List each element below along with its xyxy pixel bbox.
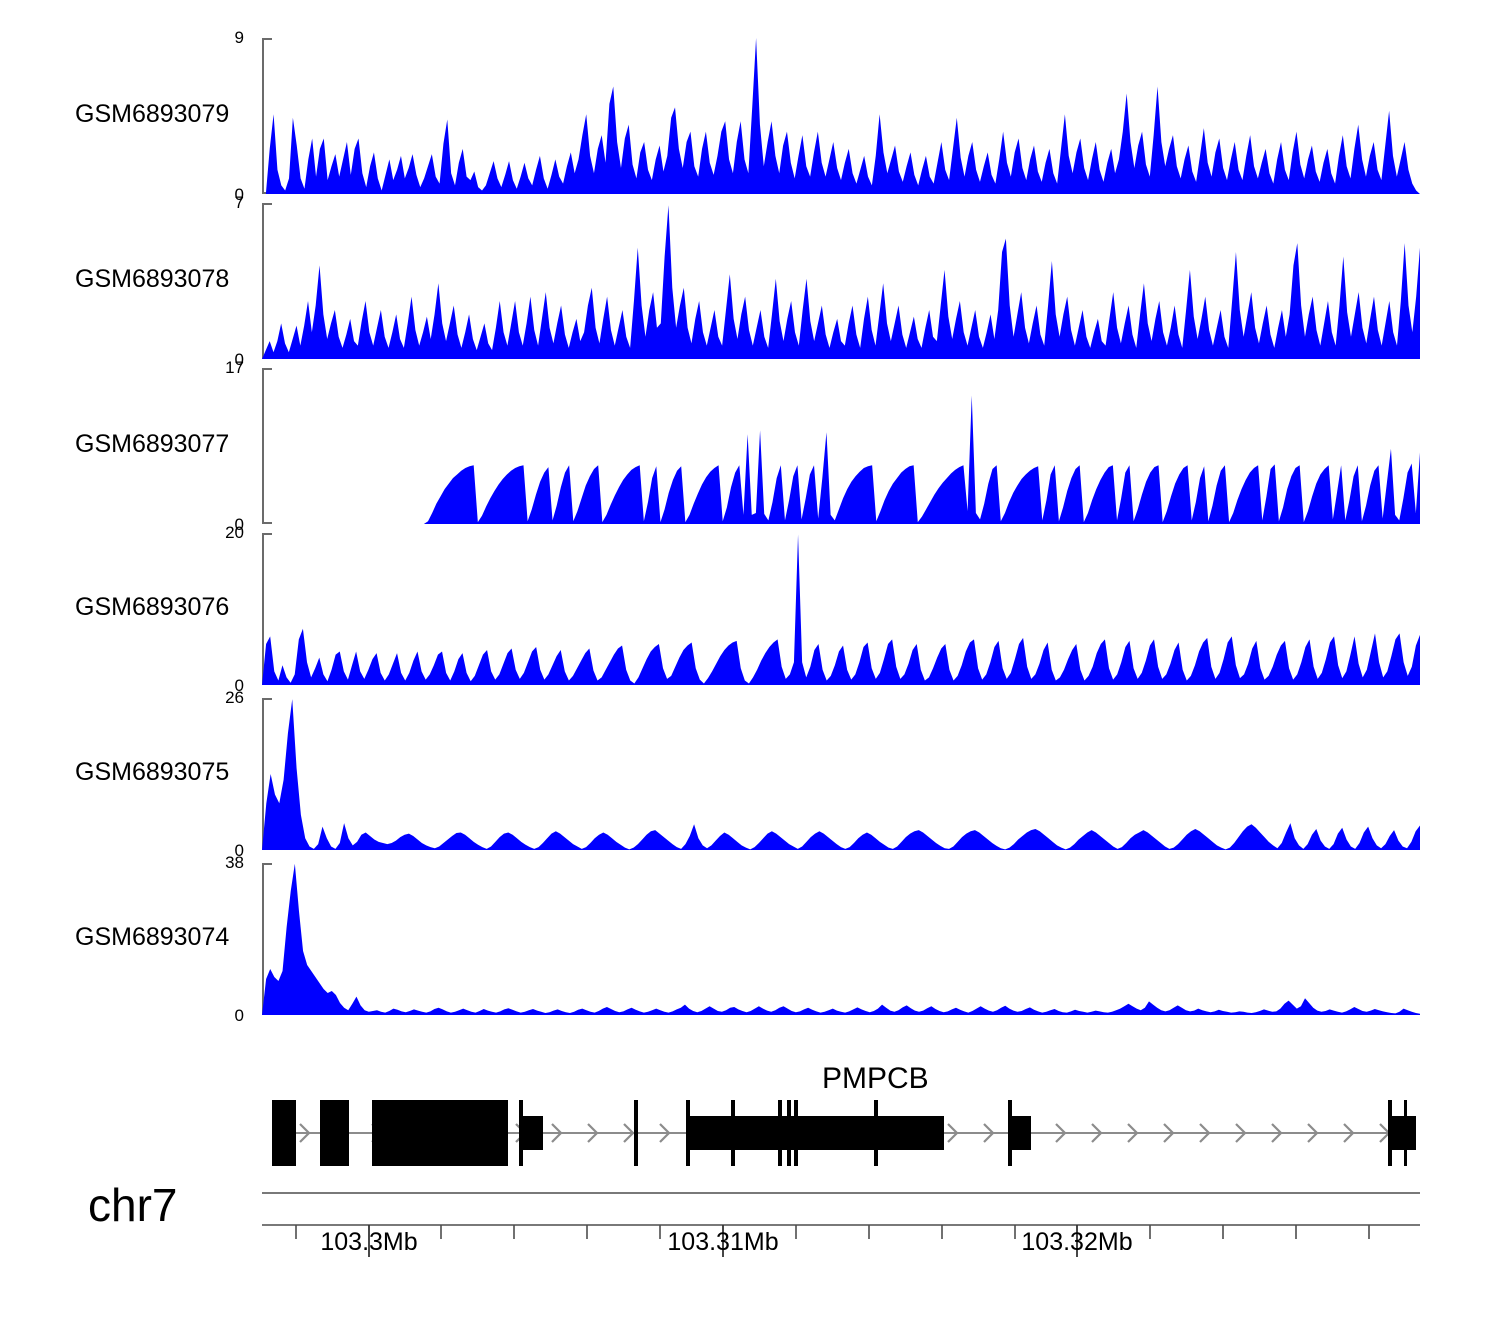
y-axis-max-label: 17 (225, 359, 244, 376)
coverage-track[interactable]: GSM689307990 (0, 38, 1500, 194)
gene-model-panel[interactable] (0, 1055, 1500, 1195)
ruler-tick-label: 103.32Mb (1021, 1228, 1132, 1257)
coverage-track[interactable]: GSM6893077170 (0, 368, 1500, 524)
coverage-track[interactable]: GSM6893076200 (0, 533, 1500, 685)
gene-name-label: PMPCB (822, 1062, 929, 1096)
y-axis-max-label: 20 (225, 524, 244, 541)
track-sample-label: GSM6893076 (75, 593, 229, 622)
coverage-area-plot[interactable] (262, 368, 1420, 524)
ruler-tick-label: 103.3Mb (320, 1228, 417, 1257)
coverage-area-plot[interactable] (262, 863, 1420, 1015)
coverage-area-plot[interactable] (262, 698, 1420, 850)
coverage-area-plot[interactable] (262, 533, 1420, 685)
coverage-area-plot[interactable] (262, 38, 1420, 194)
track-sample-label: GSM6893074 (75, 923, 229, 952)
coverage-track[interactable]: GSM6893074380 (0, 863, 1500, 1015)
track-sample-label: GSM6893078 (75, 265, 229, 294)
track-sample-label: GSM6893075 (75, 758, 229, 787)
coverage-track[interactable]: GSM689307870 (0, 203, 1500, 359)
y-axis-max-label: 38 (225, 854, 244, 871)
genome-browser: GSM689307990GSM689307870GSM6893077170GSM… (0, 0, 1500, 1320)
track-sample-label: GSM6893077 (75, 430, 229, 459)
ruler-tick-label: 103.31Mb (667, 1228, 778, 1257)
coverage-track[interactable]: GSM6893075260 (0, 698, 1500, 850)
coverage-area-plot[interactable] (262, 203, 1420, 359)
y-axis-min-label: 0 (235, 1007, 244, 1024)
y-axis-max-label: 26 (225, 689, 244, 706)
y-axis-max-label: 7 (235, 194, 244, 211)
track-sample-label: GSM6893079 (75, 100, 229, 129)
y-axis-max-label: 9 (235, 29, 244, 46)
